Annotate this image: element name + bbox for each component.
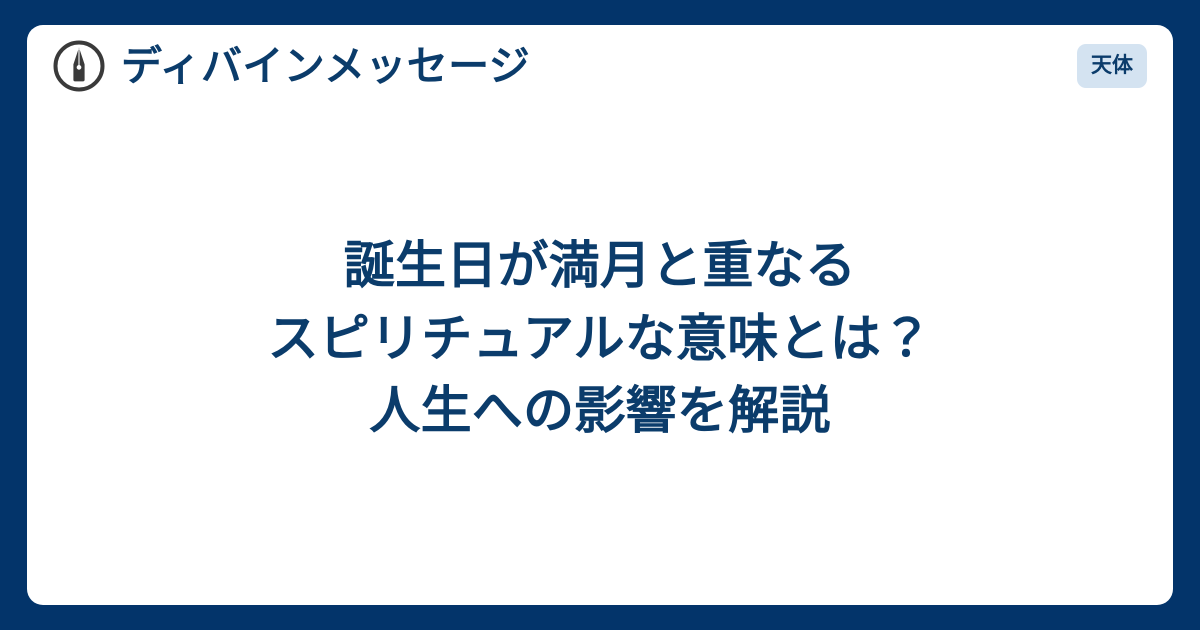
content-card: ディバインメッセージ 天体 誕生日が満月と重なる スピリチュアルな意味とは？ 人… <box>27 25 1173 605</box>
card-header: ディバインメッセージ 天体 <box>27 25 1173 107</box>
site-brand[interactable]: ディバインメッセージ <box>51 38 530 94</box>
page-title-line-3: 人生への影響を解説 <box>268 375 933 447</box>
page-title: 誕生日が満月と重なる スピリチュアルな意味とは？ 人生への影響を解説 <box>268 230 933 447</box>
site-name: ディバインメッセージ <box>121 46 530 87</box>
card-body: 誕生日が満月と重なる スピリチュアルな意味とは？ 人生への影響を解説 <box>27 107 1173 605</box>
page-title-line-2: スピリチュアルな意味とは？ <box>268 303 933 375</box>
page-title-line-1: 誕生日が満月と重なる <box>268 230 933 302</box>
pen-nib-in-circle-icon <box>51 38 107 94</box>
category-badge[interactable]: 天体 <box>1077 44 1147 88</box>
og-image-frame: ディバインメッセージ 天体 誕生日が満月と重なる スピリチュアルな意味とは？ 人… <box>0 0 1200 630</box>
